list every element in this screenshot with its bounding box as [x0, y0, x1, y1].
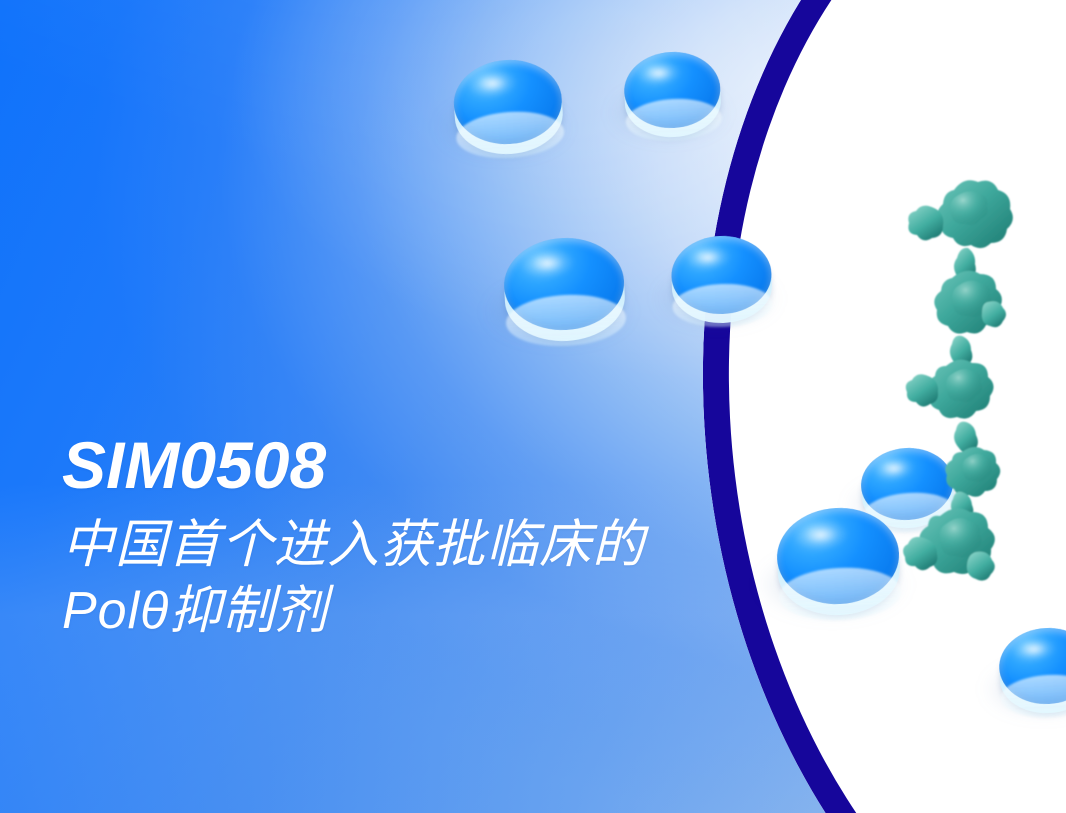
subtitle-line-1: 中国首个进入获批临床的 [62, 513, 882, 579]
page-title: SIM0508 [62, 432, 882, 499]
pill-middle-left [502, 235, 628, 368]
subtitle-line-2: Polθ抑制剂 [62, 579, 882, 645]
pill-bottom-right [997, 626, 1066, 736]
headline-block: SIM0508 中国首个进入获批临床的 Polθ抑制剂 [62, 432, 882, 644]
page-subtitle: 中国首个进入获批临床的 Polθ抑制剂 [62, 513, 882, 644]
pill-top-right [622, 50, 723, 160]
pill-top-left [451, 56, 567, 179]
pill-middle-right [670, 234, 774, 345]
slide-canvas: SIM0508 中国首个进入获批临床的 Polθ抑制剂 [0, 0, 1066, 813]
